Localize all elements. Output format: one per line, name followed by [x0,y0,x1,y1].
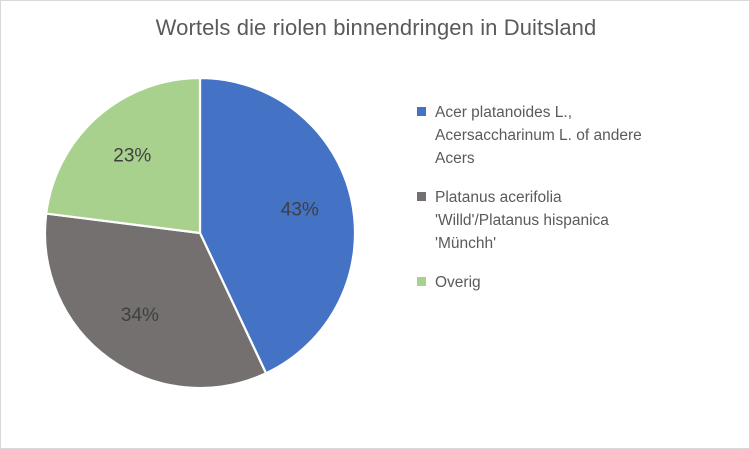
pie-chart-container: Wortels die riolen binnendringen in Duit… [0,0,750,449]
legend-color-swatch-icon [417,192,426,201]
legend-color-swatch-icon [417,107,426,116]
legend-entry-label: Acer platanoides L., Acersaccharinum L. … [435,101,642,170]
legend-entry[interactable]: Acer platanoides L., Acersaccharinum L. … [417,101,717,170]
pie-plot-area: 43%34%23% [44,77,356,389]
chart-title: Wortels die riolen binnendringen in Duit… [1,15,750,41]
pie-data-label: 43% [281,200,319,221]
legend-color-swatch-icon [417,277,426,286]
pie-slice-group [45,78,355,388]
pie-svg: 43%34%23% [44,77,356,389]
legend-entry[interactable]: Platanus acerifolia 'Willd'/Platanus his… [417,186,717,255]
pie-data-label: 23% [113,145,151,166]
legend-entry-label: Platanus acerifolia 'Willd'/Platanus his… [435,186,609,255]
legend-entry-label: Overig [435,271,481,294]
pie-data-label: 34% [121,305,159,326]
chart-legend: Acer platanoides L., Acersaccharinum L. … [417,101,717,310]
legend-entry[interactable]: Overig [417,271,717,294]
